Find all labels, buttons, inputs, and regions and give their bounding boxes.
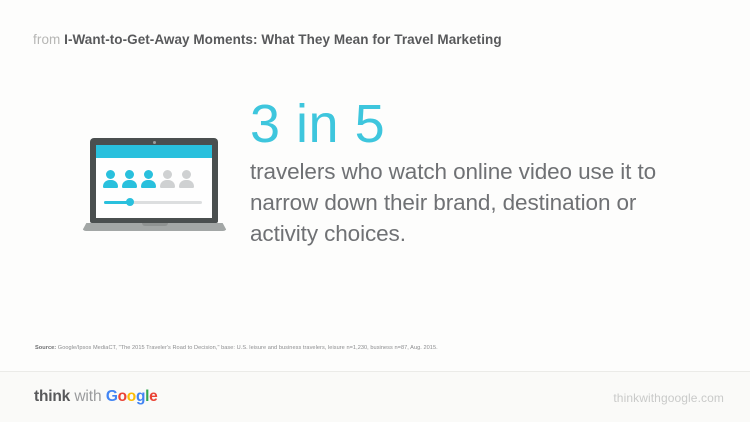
screen-content-area (96, 158, 212, 218)
slide-canvas: from I-Want-to-Get-Away Moments: What Th… (0, 0, 750, 422)
person-body (103, 180, 118, 188)
person-head (163, 170, 172, 179)
main-content: 3 in 5 travelers who watch online video … (0, 95, 750, 275)
person-head (125, 170, 134, 179)
person-body (179, 180, 194, 188)
source-citation: Source: Google/Ipsos MediaCT, "The 2015 … (35, 344, 438, 353)
think-with-google-logo[interactable]: think with Google (34, 387, 157, 406)
logo-with-word: with (74, 388, 101, 405)
logo-google-word: Google (106, 388, 158, 405)
person-icon-4-inactive (160, 170, 175, 188)
statistic-block: 3 in 5 travelers who watch online video … (250, 95, 705, 249)
person-head (106, 170, 115, 179)
laptop-camera-icon (153, 141, 156, 144)
source-text: Google/Ipsos MediaCT, "The 2015 Traveler… (58, 345, 438, 351)
statistic-description: travelers who watch online video use it … (250, 156, 680, 249)
progress-handle (126, 198, 134, 206)
header-deck-title: I-Want-to-Get-Away Moments: What They Me… (64, 32, 501, 47)
header-from-label: from (33, 32, 60, 47)
person-icon-1-active (103, 170, 118, 188)
laptop-illustration (82, 138, 227, 243)
statistic-number: 3 in 5 (250, 95, 705, 153)
person-head (182, 170, 191, 179)
person-head (144, 170, 153, 179)
logo-google-letter-3: o (127, 388, 136, 405)
person-body (141, 180, 156, 188)
person-icon-5-inactive (179, 170, 194, 188)
laptop-trackpad-notch (142, 223, 168, 226)
person-body (122, 180, 137, 188)
laptop-lid (90, 138, 218, 223)
people-icons-row (103, 170, 194, 188)
screen-title-bar (96, 145, 212, 158)
logo-google-letter-4: g (136, 388, 145, 405)
progress-fill (104, 201, 128, 204)
footer-website-url[interactable]: thinkwithgoogle.com (613, 390, 724, 406)
logo-google-letter-1: G (106, 388, 118, 405)
logo-google-letter-6: e (149, 388, 157, 405)
slide-header: from I-Want-to-Get-Away Moments: What Th… (33, 31, 502, 49)
person-icon-3-active (141, 170, 156, 188)
slide-footer: think with Google thinkwithgoogle.com (0, 372, 750, 422)
person-body (160, 180, 175, 188)
video-progress-slider (104, 198, 202, 206)
logo-google-letter-2: o (118, 388, 127, 405)
laptop-screen (96, 145, 212, 218)
person-icon-2-active (122, 170, 137, 188)
source-label: Source: (35, 345, 56, 351)
logo-think-word: think (34, 388, 70, 405)
